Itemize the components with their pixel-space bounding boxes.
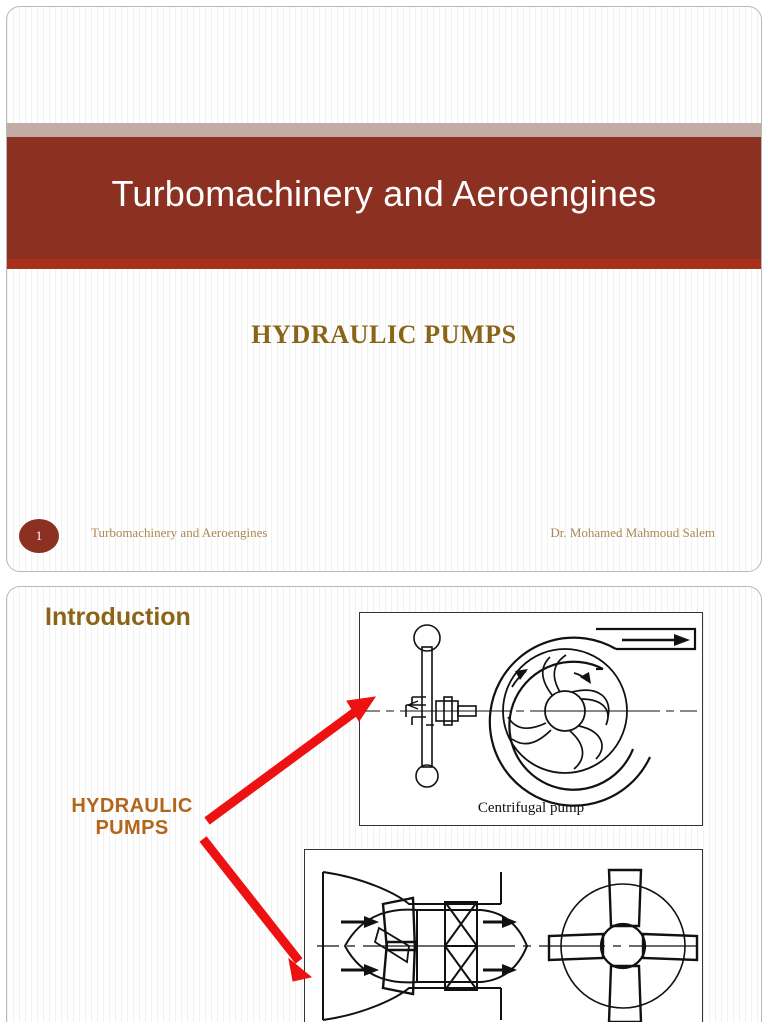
callout-line-1: HYDRAULIC: [47, 795, 217, 817]
page-title: Turbomachinery and Aeroengines: [7, 163, 761, 225]
slide-number-badge: 1: [19, 519, 59, 553]
deck-subtitle: HYDRAULIC PUMPS: [7, 315, 761, 355]
footer-author-name: Dr. Mohamed Mahmoud Salem: [550, 525, 715, 541]
callout-line-2: PUMPS: [47, 817, 217, 839]
footer-course-name: Turbomachinery and Aeroengines: [91, 525, 267, 541]
section-title: Introduction: [45, 603, 191, 632]
presentation-page: Turbomachinery and Aeroengines HYDRAULIC…: [0, 0, 768, 1024]
slide-2-introduction: Introduction HYDRAULIC PUMPS: [6, 586, 762, 1022]
figure-centrifugal-pump: Centrifugal pump: [359, 612, 703, 826]
callout-hydraulic-pumps: HYDRAULIC PUMPS: [47, 795, 217, 840]
slide-1-title-slide: Turbomachinery and Aeroengines HYDRAULIC…: [6, 6, 762, 572]
figure-caption-centrifugal: Centrifugal pump: [360, 800, 702, 817]
axial-pump-drawing: [305, 850, 701, 1022]
centrifugal-pump-drawing: [360, 613, 701, 824]
title-band-bottom: [7, 259, 761, 269]
slide-footer: 1 Turbomachinery and Aeroengines Dr. Moh…: [7, 519, 761, 553]
figure-axial-pump: [304, 849, 703, 1022]
title-band-light: [7, 123, 761, 137]
